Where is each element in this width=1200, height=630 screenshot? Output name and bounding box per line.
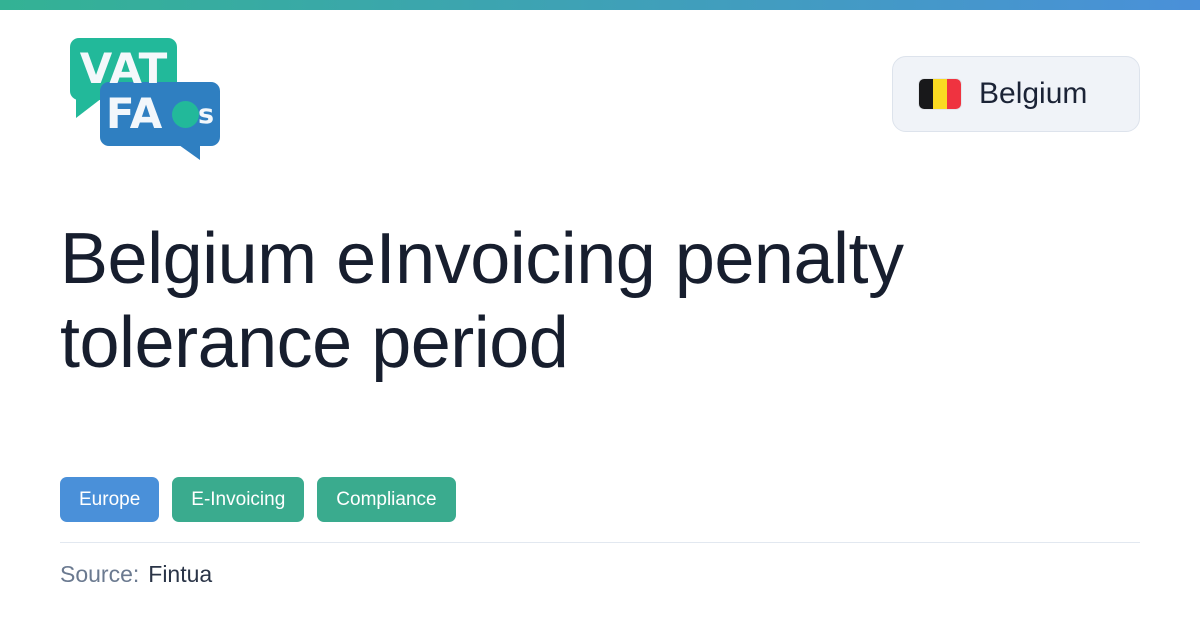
main-content: Belgium eInvoicing penalty tolerance per… <box>60 218 1140 385</box>
page-header: VAT FAQs Belgium <box>0 10 1200 170</box>
tag-e-invoicing[interactable]: E-Invoicing <box>172 477 304 522</box>
tag-compliance[interactable]: Compliance <box>317 477 455 522</box>
top-gradient-bar <box>0 0 1200 10</box>
logo-faqs-text: FAQs <box>100 82 220 146</box>
logo-vat-bubble-tail-icon <box>76 98 102 118</box>
brand-logo[interactable]: VAT FAQs <box>60 38 235 156</box>
country-badge[interactable]: Belgium <box>892 56 1140 132</box>
tag-list: Europe E-Invoicing Compliance <box>60 477 456 522</box>
logo-faqs-text-main: FA <box>106 93 162 135</box>
country-name-label: Belgium <box>979 77 1087 111</box>
source-label: Source: <box>60 561 139 588</box>
footer-divider <box>60 542 1140 543</box>
flag-band-yellow <box>933 79 947 109</box>
logo-q-dot-icon <box>172 101 199 128</box>
belgium-flag-icon <box>919 79 961 109</box>
flag-band-red <box>947 79 961 109</box>
page-title: Belgium eInvoicing penalty tolerance per… <box>60 218 990 385</box>
source-row: Source: Fintua <box>60 561 212 588</box>
source-value: Fintua <box>148 561 212 588</box>
tag-europe[interactable]: Europe <box>60 477 159 522</box>
flag-band-black <box>919 79 933 109</box>
logo-faqs-text-suffix: s <box>198 101 214 128</box>
